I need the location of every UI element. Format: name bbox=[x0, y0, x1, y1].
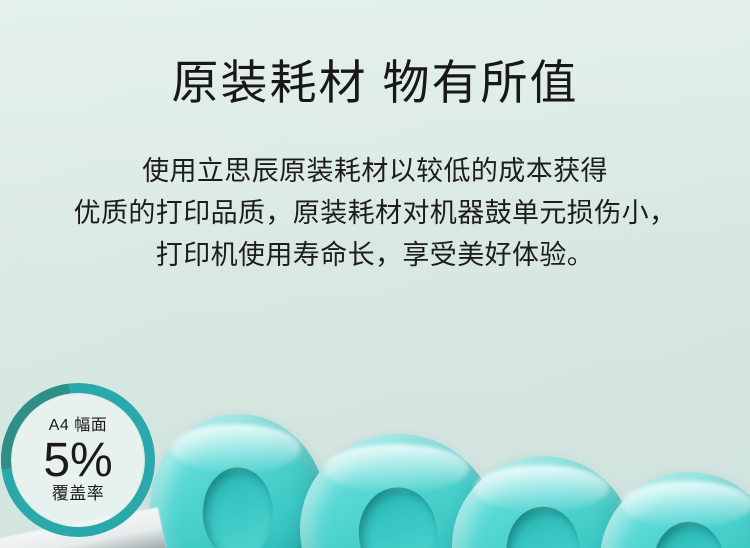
coverage-badge-value: 5% bbox=[43, 436, 112, 486]
sculpture-glyph bbox=[300, 434, 496, 548]
sculpture-glyph-counter bbox=[653, 521, 724, 548]
sculpture-glyph bbox=[452, 456, 634, 548]
sculpture-glyph bbox=[600, 472, 750, 548]
coverage-badge-top-label: A4 幅面 bbox=[49, 417, 108, 435]
body-line: 打印机使用寿命长，享受美好体验。 bbox=[0, 234, 750, 276]
coverage-badge-text: A4 幅面 5% 覆盖率 bbox=[1, 383, 155, 537]
page-title: 原装耗材 物有所值 bbox=[0, 52, 750, 114]
sculpture-glyph-counter bbox=[203, 467, 273, 548]
body-paragraph: 使用立思辰原装耗材以较低的成本获得 优质的打印品质，原装耗材对机器鼓单元损伤小，… bbox=[0, 150, 750, 276]
promo-banner: 原装耗材 物有所值 使用立思辰原装耗材以较低的成本获得 优质的打印品质，原装耗材… bbox=[0, 0, 750, 548]
sculpture-glyph-counter bbox=[507, 506, 580, 548]
coverage-badge: A4 幅面 5% 覆盖率 bbox=[1, 383, 155, 537]
sculpture-glyph bbox=[150, 414, 326, 548]
body-line: 优质的打印品质，原装耗材对机器鼓单元损伤小， bbox=[0, 192, 750, 234]
body-line: 使用立思辰原装耗材以较低的成本获得 bbox=[0, 150, 750, 192]
sculpture-glyph-counter bbox=[359, 487, 437, 548]
coverage-badge-bottom-label: 覆盖率 bbox=[52, 484, 105, 503]
